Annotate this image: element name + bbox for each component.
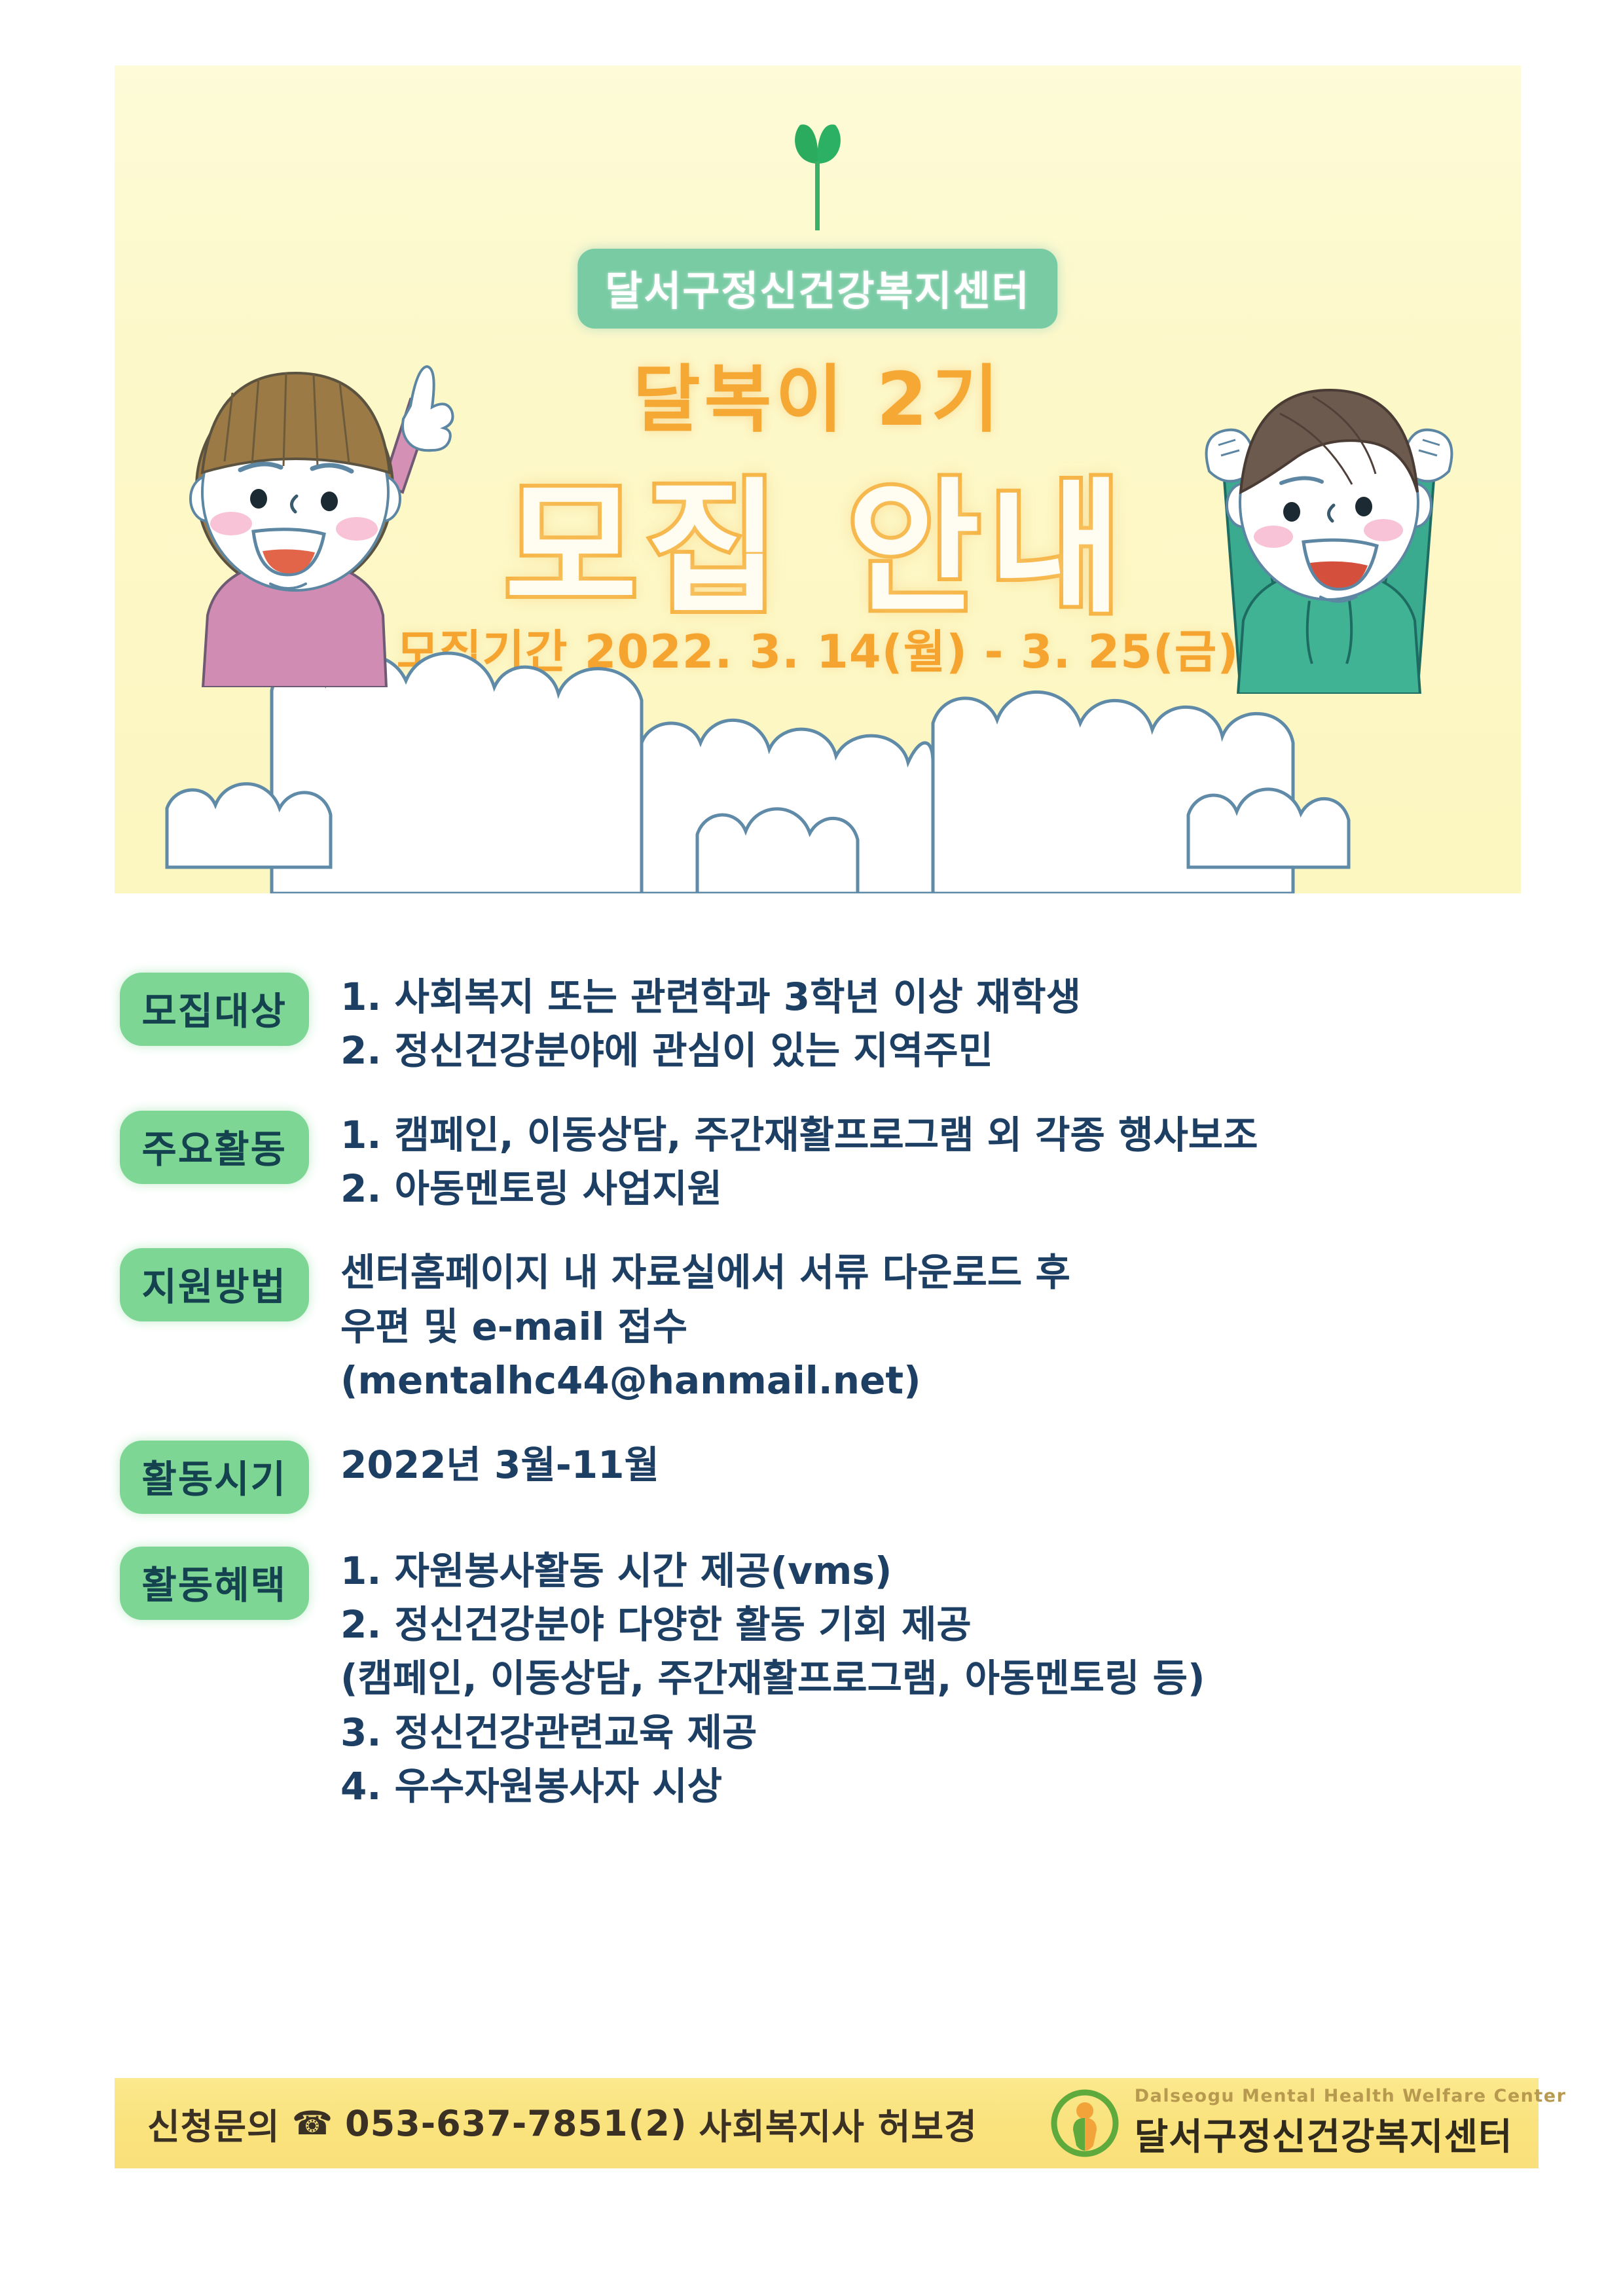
- section-row-0: 모집대상 1. 사회복지 또는 관련학과 3학년 이상 재학생 2. 정신건강분…: [0, 969, 1623, 1078]
- sprout-icon: [775, 101, 860, 232]
- section-line-1-0: 1. 캠페인, 이동상담, 주간재활프로그램 외 각종 행사보조: [340, 1108, 1623, 1162]
- section-label-col-0: 모집대상: [0, 969, 340, 1046]
- application-email: (mentalhc44@hanmail.net): [340, 1354, 1623, 1407]
- section-row-2: 지원방법 센터홈페이지 내 자료실에서 서류 다운로드 후 우편 및 e-mai…: [0, 1244, 1623, 1407]
- section-line-4-4: 4. 우수자원봉사자 시상: [340, 1759, 1623, 1813]
- center-name-badge-label: 달서구정신건강복지센터: [605, 258, 1030, 317]
- section-line-4-2: (캠페인, 이동상담, 주간재활프로그램, 아동멘토링 등): [340, 1651, 1623, 1705]
- footer-contact: 신청문의 ☎ 053-637-7851(2) 사회복지사 허보경: [147, 2098, 977, 2149]
- center-name-badge: 달서구정신건강복지센터: [577, 249, 1057, 329]
- section-body-3: 2022년 3월-11월: [340, 1437, 1623, 1492]
- section-label-3: 활동시기: [142, 1448, 287, 1503]
- section-label-col-1: 주요활동: [0, 1107, 340, 1184]
- section-line-0-1: 2. 정신건강분야에 관심이 있는 지역주민: [340, 1024, 1623, 1077]
- section-pill-주요활동: 주요활동: [120, 1111, 309, 1184]
- section-line-2-0: 센터홈페이지 내 자료실에서 서류 다운로드 후: [340, 1246, 1623, 1299]
- girl-pointing-up-illustration: [167, 321, 475, 687]
- inquiry-label: 신청문의: [147, 2098, 280, 2149]
- section-body-0: 1. 사회복지 또는 관련학과 3학년 이상 재학생 2. 정신건강분야에 관심…: [340, 969, 1623, 1078]
- boy-arms-raised-illustration: [1175, 340, 1483, 694]
- center-logo-icon: [1049, 2088, 1120, 2159]
- section-line-1-1: 2. 아동멘토링 사업지원: [340, 1162, 1623, 1215]
- poster-header: 달서구정신건강복지센터 달복이 2기 모집 안내 모집기간 2022. 3. 1…: [115, 65, 1521, 893]
- section-body-1: 1. 캠페인, 이동상담, 주간재활프로그램 외 각종 행사보조 2. 아동멘토…: [340, 1107, 1623, 1216]
- section-line-4-3: 3. 정신건강관련교육 제공: [340, 1706, 1623, 1759]
- section-body-4: 1. 자원봉사활동 시간 제공(vms) 2. 정신건강분야 다양한 활동 기회…: [340, 1543, 1623, 1814]
- section-pill-활동시기: 활동시기: [120, 1441, 309, 1514]
- phone-number: 053-637-7851(2): [345, 2103, 687, 2144]
- section-label-4: 활동혜택: [142, 1554, 287, 1609]
- section-label-col-3: 활동시기: [0, 1437, 340, 1514]
- footer-logo-text: Dalseogu Mental Health Welfare Center 달서…: [1135, 2086, 1567, 2161]
- section-pill-지원방법: 지원방법: [120, 1248, 309, 1321]
- section-row-1: 주요활동 1. 캠페인, 이동상담, 주간재활프로그램 외 각종 행사보조 2.…: [0, 1107, 1623, 1216]
- section-label-col-4: 활동혜택: [0, 1543, 340, 1620]
- section-line-4-1: 2. 정신건강분야 다양한 활동 기회 제공: [340, 1598, 1623, 1651]
- poster-subtitle: 달복이 2기: [632, 340, 1002, 446]
- section-pill-활동혜택: 활동혜택: [120, 1547, 309, 1620]
- logo-text-en: Dalseogu Mental Health Welfare Center: [1135, 2086, 1567, 2106]
- section-line-2-1: 우편 및 e-mail 접수: [340, 1300, 1623, 1354]
- section-body-2: 센터홈페이지 내 자료실에서 서류 다운로드 후 우편 및 e-mail 접수 …: [340, 1244, 1623, 1407]
- section-label-col-2: 지원방법: [0, 1244, 340, 1321]
- section-label-0: 모집대상: [142, 980, 287, 1035]
- section-pill-모집대상: 모집대상: [120, 973, 309, 1046]
- poster-footer: 신청문의 ☎ 053-637-7851(2) 사회복지사 허보경 Dalseog…: [115, 2078, 1539, 2168]
- section-label-2: 지원방법: [142, 1256, 287, 1311]
- section-row-4: 활동혜택 1. 자원봉사활동 시간 제공(vms) 2. 정신건강분야 다양한 …: [0, 1543, 1623, 1814]
- section-line-0-0: 1. 사회복지 또는 관련학과 3학년 이상 재학생: [340, 970, 1623, 1024]
- poster-content: 모집대상 1. 사회복지 또는 관련학과 3학년 이상 재학생 2. 정신건강분…: [0, 969, 1623, 1842]
- phone-icon: ☎: [292, 2104, 333, 2142]
- staff-name: 사회복지사 허보경: [699, 2098, 977, 2149]
- section-row-3: 활동시기 2022년 3월-11월: [0, 1437, 1623, 1514]
- footer-logo: Dalseogu Mental Health Welfare Center 달서…: [1049, 2086, 1567, 2161]
- section-line-4-0: 1. 자원봉사활동 시간 제공(vms): [340, 1544, 1623, 1598]
- logo-text-kr: 달서구정신건강복지센터: [1135, 2108, 1567, 2161]
- section-label-1: 주요활동: [142, 1119, 287, 1174]
- section-line-3-0: 2022년 3월-11월: [340, 1438, 1623, 1492]
